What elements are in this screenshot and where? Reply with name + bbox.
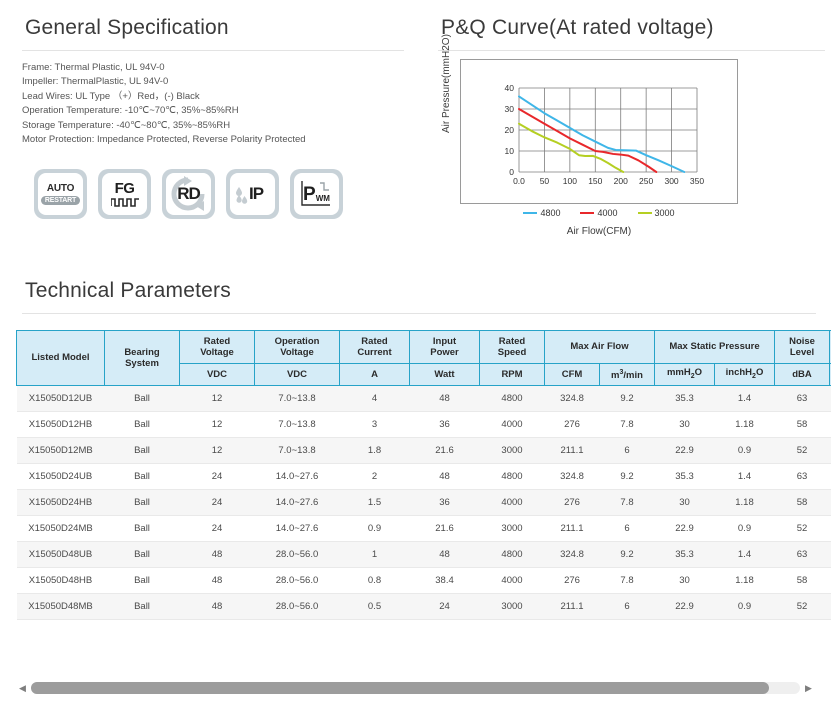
cell-operation-voltage: 14.0~27.6: [255, 490, 340, 516]
cell-inchh2o: 1.18: [715, 412, 775, 438]
unit-inchh2o: inchH2O: [715, 364, 775, 386]
scroll-left-arrow-icon[interactable]: ◀: [16, 680, 29, 696]
cell-dba: 58: [775, 490, 830, 516]
product-spec-page: General Specification Frame: Thermal Pla…: [0, 0, 831, 716]
cell-mmh2o: 35.3: [655, 386, 715, 412]
col-rated-speed: RatedSpeed: [480, 331, 545, 364]
chart-x-axis-label: Air Flow(CFM): [460, 226, 738, 237]
svg-text:40: 40: [505, 83, 515, 93]
unit-dba: dBA: [775, 364, 830, 386]
cell-cfm: 324.8: [545, 464, 600, 490]
list-item: Storage Temperature: -40℃~80℃, 35%~85%RH: [22, 119, 430, 133]
legend-swatch-3000: [638, 212, 652, 215]
table-row[interactable]: X15050D24HBBall2414.0~27.61.53640002767.…: [17, 490, 831, 516]
table-header-row-1: Listed Model BearingSystem RatedVoltage …: [17, 331, 831, 364]
pwm-badge-p-label: P: [303, 186, 316, 203]
unit-m3-min: m3/min: [600, 364, 655, 386]
cell-mmh2o: 30: [655, 412, 715, 438]
chart-legend: 4800 4000 3000: [460, 208, 738, 218]
cell-rated-current: 2: [340, 464, 410, 490]
col-rated-current: RatedCurrent: [340, 331, 410, 364]
cell-inchh2o: 1.18: [715, 490, 775, 516]
cell-m3min: 6: [600, 438, 655, 464]
cell-cfm: 211.1: [545, 594, 600, 620]
cell-operation-voltage: 7.0~13.8: [255, 438, 340, 464]
cell-m3min: 9.2: [600, 542, 655, 568]
chart-plot-frame: 0102030400.050100150200250300350: [460, 59, 738, 204]
cell-input-power: 38.4: [410, 568, 480, 594]
cell-operation-voltage: 28.0~56.0: [255, 594, 340, 620]
col-bearing-system: BearingSystem: [105, 331, 180, 386]
cell-operation-voltage: 14.0~27.6: [255, 516, 340, 542]
col-max-static-pressure: Max Static Pressure: [655, 331, 775, 364]
cell-input-power: 48: [410, 464, 480, 490]
cell-mmh2o: 30: [655, 490, 715, 516]
cell-bearing: Ball: [105, 490, 180, 516]
unit-cfm: CFM: [545, 364, 600, 386]
feature-badges: AUTO RESTART FG: [34, 169, 430, 219]
cell-operation-voltage: 28.0~56.0: [255, 542, 340, 568]
cell-cfm: 276: [545, 490, 600, 516]
cell-rated-speed: 4800: [480, 542, 545, 568]
cell-mmh2o: 35.3: [655, 464, 715, 490]
technical-parameters-table-scroll[interactable]: Listed Model BearingSystem RatedVoltage …: [16, 330, 815, 620]
cell-rated-voltage: 24: [180, 490, 255, 516]
svg-text:10: 10: [505, 146, 515, 156]
horizontal-scrollbar[interactable]: ◀ ▶: [16, 680, 815, 696]
col-rated-voltage: RatedVoltage: [180, 331, 255, 364]
cell-dba: 52: [775, 516, 830, 542]
cell-rated-voltage: 12: [180, 438, 255, 464]
col-listed-model: Listed Model: [17, 331, 105, 386]
cell-mmh2o: 22.9: [655, 594, 715, 620]
cell-cfm: 276: [545, 568, 600, 594]
cell-cfm: 211.1: [545, 516, 600, 542]
cell-inchh2o: 1.4: [715, 542, 775, 568]
cell-rated-voltage: 48: [180, 568, 255, 594]
cell-operation-voltage: 7.0~13.8: [255, 386, 340, 412]
rd-badge-label: RD: [177, 184, 200, 204]
cell-input-power: 36: [410, 490, 480, 516]
divider: [22, 50, 404, 51]
cell-cfm: 276: [545, 412, 600, 438]
cell-inchh2o: 1.4: [715, 386, 775, 412]
cell-m3min: 9.2: [600, 464, 655, 490]
cell-rated-current: 0.9: [340, 516, 410, 542]
cell-bearing: Ball: [105, 516, 180, 542]
svg-text:100: 100: [563, 176, 577, 186]
cell-model: X15050D48UB: [17, 542, 105, 568]
cell-rated-voltage: 24: [180, 516, 255, 542]
cell-mmh2o: 22.9: [655, 438, 715, 464]
general-specification-panel: General Specification Frame: Thermal Pla…: [0, 0, 430, 237]
divider: [438, 50, 825, 51]
cell-input-power: 24: [410, 594, 480, 620]
cell-model: X15050D12HB: [17, 412, 105, 438]
ip-badge: IP: [226, 169, 279, 219]
cell-rated-speed: 3000: [480, 438, 545, 464]
pq-curve-panel: P&Q Curve(At rated voltage) Air Pressure…: [430, 0, 831, 237]
legend-swatch-4800: [523, 212, 537, 215]
legend-item-4800: 4800: [523, 208, 560, 218]
chart-title: P&Q Curve(At rated voltage): [441, 16, 831, 40]
table-row[interactable]: X15050D12MBBall127.0~13.81.821.63000211.…: [17, 438, 831, 464]
unit-ampere: A: [340, 364, 410, 386]
list-item: Motor Protection: Impedance Protected, R…: [22, 133, 430, 147]
table-row[interactable]: X15050D24UBBall2414.0~27.62484800324.89.…: [17, 464, 831, 490]
cell-rated-voltage: 12: [180, 412, 255, 438]
auto-restart-badge: AUTO RESTART: [34, 169, 87, 219]
table-row[interactable]: X15050D12UBBall127.0~13.84484800324.89.2…: [17, 386, 831, 412]
cell-m3min: 7.8: [600, 490, 655, 516]
cell-dba: 52: [775, 438, 830, 464]
pwm-badge: P WM: [290, 169, 343, 219]
cell-m3min: 7.8: [600, 568, 655, 594]
cell-bearing: Ball: [105, 568, 180, 594]
technical-parameters-title: Technical Parameters: [25, 279, 831, 303]
cell-rated-voltage: 48: [180, 594, 255, 620]
col-noise-level: NoiseLevel: [775, 331, 830, 364]
svg-text:50: 50: [540, 176, 550, 186]
cell-input-power: 48: [410, 386, 480, 412]
list-item: Frame: Thermal Plastic, UL 94V-0: [22, 61, 430, 75]
legend-item-4000: 4000: [580, 208, 617, 218]
cell-dba: 63: [775, 386, 830, 412]
divider: [22, 313, 816, 314]
cell-model: X15050D24UB: [17, 464, 105, 490]
cell-dba: 63: [775, 464, 830, 490]
table-row[interactable]: X15050D48HBBall4828.0~56.00.838.44000276…: [17, 568, 831, 594]
cell-operation-voltage: 28.0~56.0: [255, 568, 340, 594]
ip-badge-label: IP: [249, 184, 263, 204]
water-drops-icon: [235, 186, 249, 204]
list-item: Impeller: ThermalPlastic, UL 94V-0: [22, 75, 430, 89]
square-wave-icon: [111, 197, 139, 207]
cell-rated-current: 1: [340, 542, 410, 568]
cell-rated-speed: 3000: [480, 516, 545, 542]
unit-rpm: RPM: [480, 364, 545, 386]
cell-m3min: 6: [600, 594, 655, 620]
cell-operation-voltage: 7.0~13.8: [255, 412, 340, 438]
cell-mmh2o: 22.9: [655, 516, 715, 542]
cell-rated-voltage: 48: [180, 542, 255, 568]
cell-input-power: 21.6: [410, 438, 480, 464]
cell-cfm: 324.8: [545, 386, 600, 412]
table-row[interactable]: X15050D24MBBall2414.0~27.60.921.63000211…: [17, 516, 831, 542]
unit-watt: Watt: [410, 364, 480, 386]
cell-operation-voltage: 14.0~27.6: [255, 464, 340, 490]
unit-mmh2o: mmH2O: [655, 364, 715, 386]
cell-rated-speed: 4000: [480, 568, 545, 594]
chart-y-axis-label: Air Pressure(mmH2O): [441, 34, 452, 133]
list-item: Lead Wires: UL Type （+）Red，(-) Black: [22, 90, 430, 104]
cell-rated-current: 0.5: [340, 594, 410, 620]
svg-text:30: 30: [505, 104, 515, 114]
fg-badge-label: FG: [115, 181, 135, 196]
cell-m3min: 7.8: [600, 412, 655, 438]
top-panels: General Specification Frame: Thermal Pla…: [0, 0, 831, 237]
cell-bearing: Ball: [105, 464, 180, 490]
cell-rated-current: 1.5: [340, 490, 410, 516]
cell-rated-speed: 3000: [480, 594, 545, 620]
unit-vdc-rated: VDC: [180, 364, 255, 386]
cell-rated-current: 1.8: [340, 438, 410, 464]
cell-mmh2o: 30: [655, 568, 715, 594]
cell-input-power: 36: [410, 412, 480, 438]
cell-bearing: Ball: [105, 542, 180, 568]
cell-cfm: 211.1: [545, 438, 600, 464]
cell-rated-current: 0.8: [340, 568, 410, 594]
cell-rated-voltage: 12: [180, 386, 255, 412]
table-row[interactable]: X15050D48MBBall4828.0~56.00.5243000211.1…: [17, 594, 831, 620]
page-title: General Specification: [25, 16, 430, 40]
pq-curve-svg: 0102030400.050100150200250300350: [461, 60, 737, 203]
cell-m3min: 6: [600, 516, 655, 542]
cell-model: X15050D24MB: [17, 516, 105, 542]
cell-inchh2o: 0.9: [715, 438, 775, 464]
cell-inchh2o: 1.4: [715, 464, 775, 490]
table-row[interactable]: X15050D12HBBall127.0~13.833640002767.830…: [17, 412, 831, 438]
cell-bearing: Ball: [105, 594, 180, 620]
list-item: Operation Temperature: -10℃~70℃, 35%~85%…: [22, 104, 430, 118]
cell-model: X15050D24HB: [17, 490, 105, 516]
col-input-power: InputPower: [410, 331, 480, 364]
legend-item-3000: 3000: [638, 208, 675, 218]
scrollbar-thumb[interactable]: [31, 682, 769, 694]
cell-model: X15050D12MB: [17, 438, 105, 464]
legend-label-4000: 4000: [597, 208, 617, 218]
cell-cfm: 324.8: [545, 542, 600, 568]
cell-mmh2o: 35.3: [655, 542, 715, 568]
technical-parameters-table: Listed Model BearingSystem RatedVoltage …: [16, 330, 831, 620]
cell-inchh2o: 0.9: [715, 516, 775, 542]
rd-badge: RD: [162, 169, 215, 219]
cell-bearing: Ball: [105, 386, 180, 412]
table-body: X15050D12UBBall127.0~13.84484800324.89.2…: [17, 386, 831, 620]
cell-rated-speed: 4800: [480, 386, 545, 412]
svg-text:0.0: 0.0: [513, 176, 525, 186]
unit-vdc-operation: VDC: [255, 364, 340, 386]
svg-text:20: 20: [505, 125, 515, 135]
svg-text:250: 250: [639, 176, 653, 186]
chart-container: Air Pressure(mmH2O) 0102030400.050100150…: [438, 59, 825, 237]
fg-badge: FG: [98, 169, 151, 219]
table-header: Listed Model BearingSystem RatedVoltage …: [17, 331, 831, 386]
cell-rated-current: 3: [340, 412, 410, 438]
cell-rated-current: 4: [340, 386, 410, 412]
legend-label-3000: 3000: [655, 208, 675, 218]
cell-model: X15050D12UB: [17, 386, 105, 412]
cell-input-power: 21.6: [410, 516, 480, 542]
cell-rated-speed: 4800: [480, 464, 545, 490]
cell-dba: 58: [775, 412, 830, 438]
cell-rated-speed: 4000: [480, 490, 545, 516]
cell-rated-speed: 4000: [480, 412, 545, 438]
col-max-air-flow: Max Air Flow: [545, 331, 655, 364]
cell-inchh2o: 0.9: [715, 594, 775, 620]
specification-list: Frame: Thermal Plastic, UL 94V-0 Impelle…: [22, 61, 430, 147]
cell-input-power: 48: [410, 542, 480, 568]
cell-dba: 58: [775, 568, 830, 594]
table-row[interactable]: X15050D48UBBall4828.0~56.01484800324.89.…: [17, 542, 831, 568]
technical-parameters-header: Technical Parameters: [0, 279, 831, 314]
pwm-badge-wm-label: WM: [316, 194, 330, 203]
legend-label-4800: 4800: [540, 208, 560, 218]
svg-text:300: 300: [664, 176, 678, 186]
cell-rated-voltage: 24: [180, 464, 255, 490]
cell-bearing: Ball: [105, 412, 180, 438]
col-operation-voltage: OperationVoltage: [255, 331, 340, 364]
svg-text:350: 350: [690, 176, 704, 186]
scroll-right-arrow-icon[interactable]: ▶: [802, 680, 815, 696]
cell-dba: 63: [775, 542, 830, 568]
legend-swatch-4000: [580, 212, 594, 215]
cell-inchh2o: 1.18: [715, 568, 775, 594]
scrollbar-track[interactable]: [31, 682, 800, 694]
cell-bearing: Ball: [105, 438, 180, 464]
cell-dba: 52: [775, 594, 830, 620]
svg-text:200: 200: [614, 176, 628, 186]
cell-model: X15050D48HB: [17, 568, 105, 594]
svg-text:150: 150: [588, 176, 602, 186]
auto-restart-badge-bottom-label: RESTART: [41, 196, 80, 205]
cell-model: X15050D48MB: [17, 594, 105, 620]
auto-restart-badge-top-label: AUTO: [47, 183, 74, 194]
cell-m3min: 9.2: [600, 386, 655, 412]
